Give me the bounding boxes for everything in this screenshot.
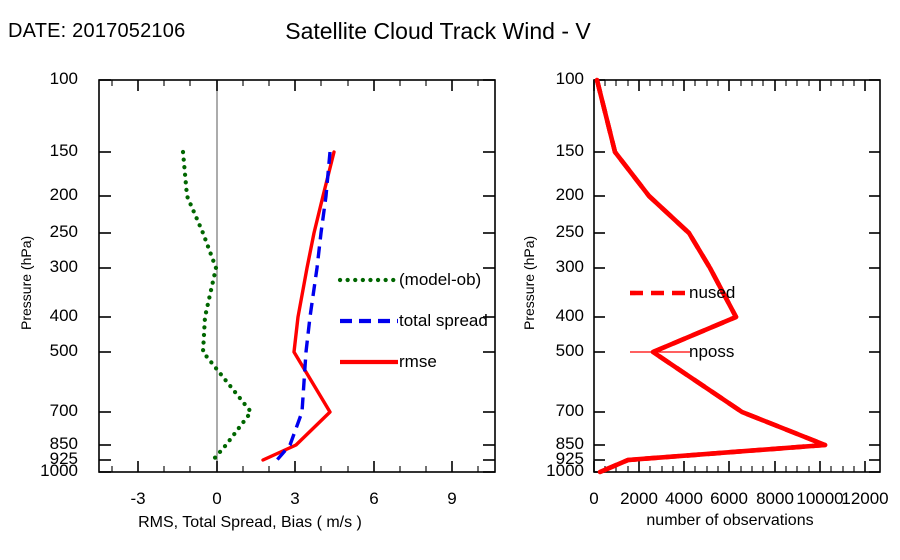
series-nused-line [597, 80, 825, 472]
right-plot-frame [594, 80, 880, 472]
right-plot-svg [0, 0, 900, 560]
legend-label-nposs: nposs [689, 342, 734, 362]
right-x-minor-ticks [605, 80, 854, 472]
right-y-major-ticks [594, 80, 880, 472]
legend-label-nused: nused [689, 283, 735, 303]
chart-page: DATE: 2017052106 Satellite Cloud Track W… [0, 0, 900, 560]
right-x-major-ticks [594, 80, 865, 472]
right-panel: Pressure (hPa) 100 150 200 250 300 400 5… [0, 0, 900, 560]
series-nposs-line [597, 80, 825, 472]
